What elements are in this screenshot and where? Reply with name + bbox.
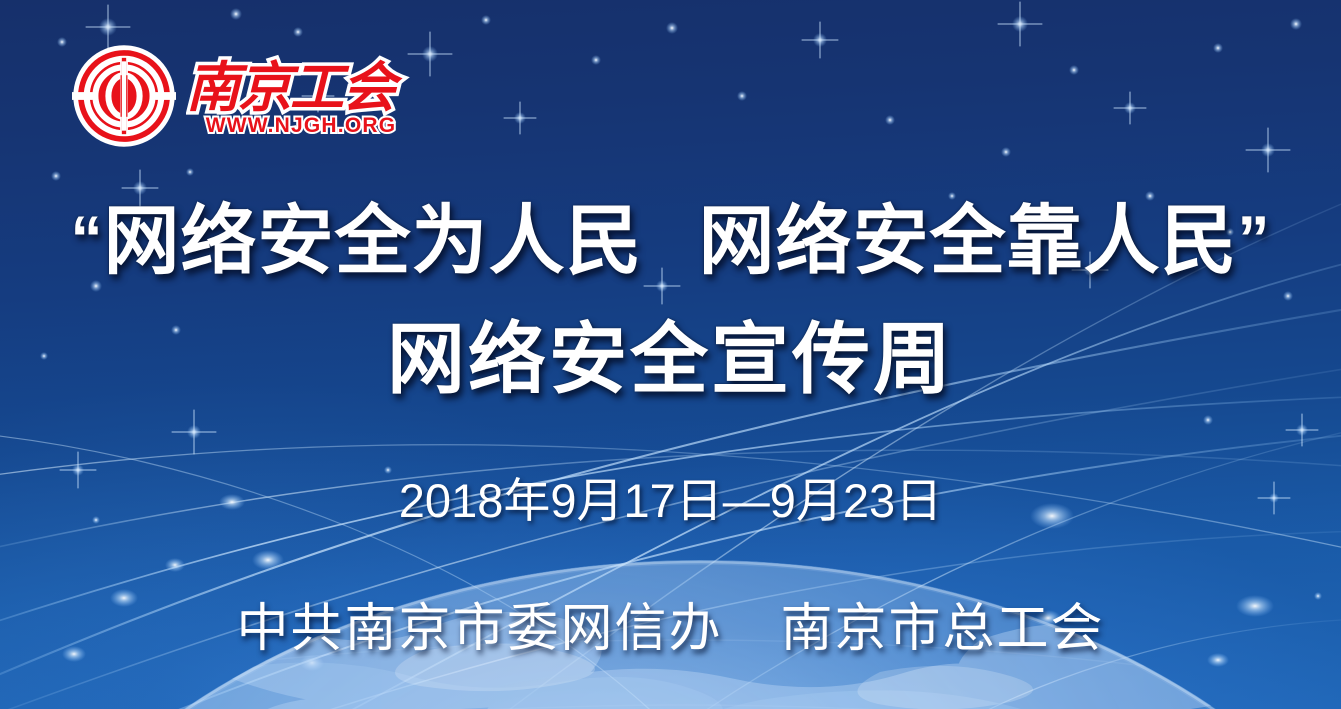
nanjing-union-chinese-name: 南京工会 — [186, 54, 416, 120]
nanjing-trade-union-logo: 南京工会 WWW.NJGH.ORG — [72, 44, 416, 148]
nanjing-union-wordmark: 南京工会 WWW.NJGH.ORG — [186, 54, 416, 138]
poster-headline: “网络安全为人民网络安全靠人民” — [0, 204, 1341, 280]
organizer-primary: 中共南京市委网信办 — [236, 600, 722, 658]
headline-phrase-2: 网络安全靠人民 — [699, 199, 1238, 284]
acftu-union-emblem — [72, 44, 176, 148]
headline-phrase-1: 网络安全为人民 — [104, 199, 643, 284]
open-quote: “ — [71, 203, 104, 275]
organizer-line: 中共南京市委网信办南京市总工会 — [0, 586, 1341, 661]
close-quote: ” — [1238, 203, 1271, 275]
union-website-url[interactable]: WWW.NJGH.ORG — [206, 114, 397, 138]
cyber-security-week-poster: 南京工会 WWW.NJGH.ORG “网络安全为人民网络安全靠人民” 网络安全宣… — [0, 0, 1341, 709]
poster-subtitle: 网络安全宣传周 — [0, 320, 1341, 398]
svg-text:南京工会: 南京工会 — [186, 58, 403, 118]
organizer-secondary: 南京市总工会 — [781, 600, 1105, 658]
event-date-range: 2018年9月17日—9月23日 — [0, 462, 1341, 531]
